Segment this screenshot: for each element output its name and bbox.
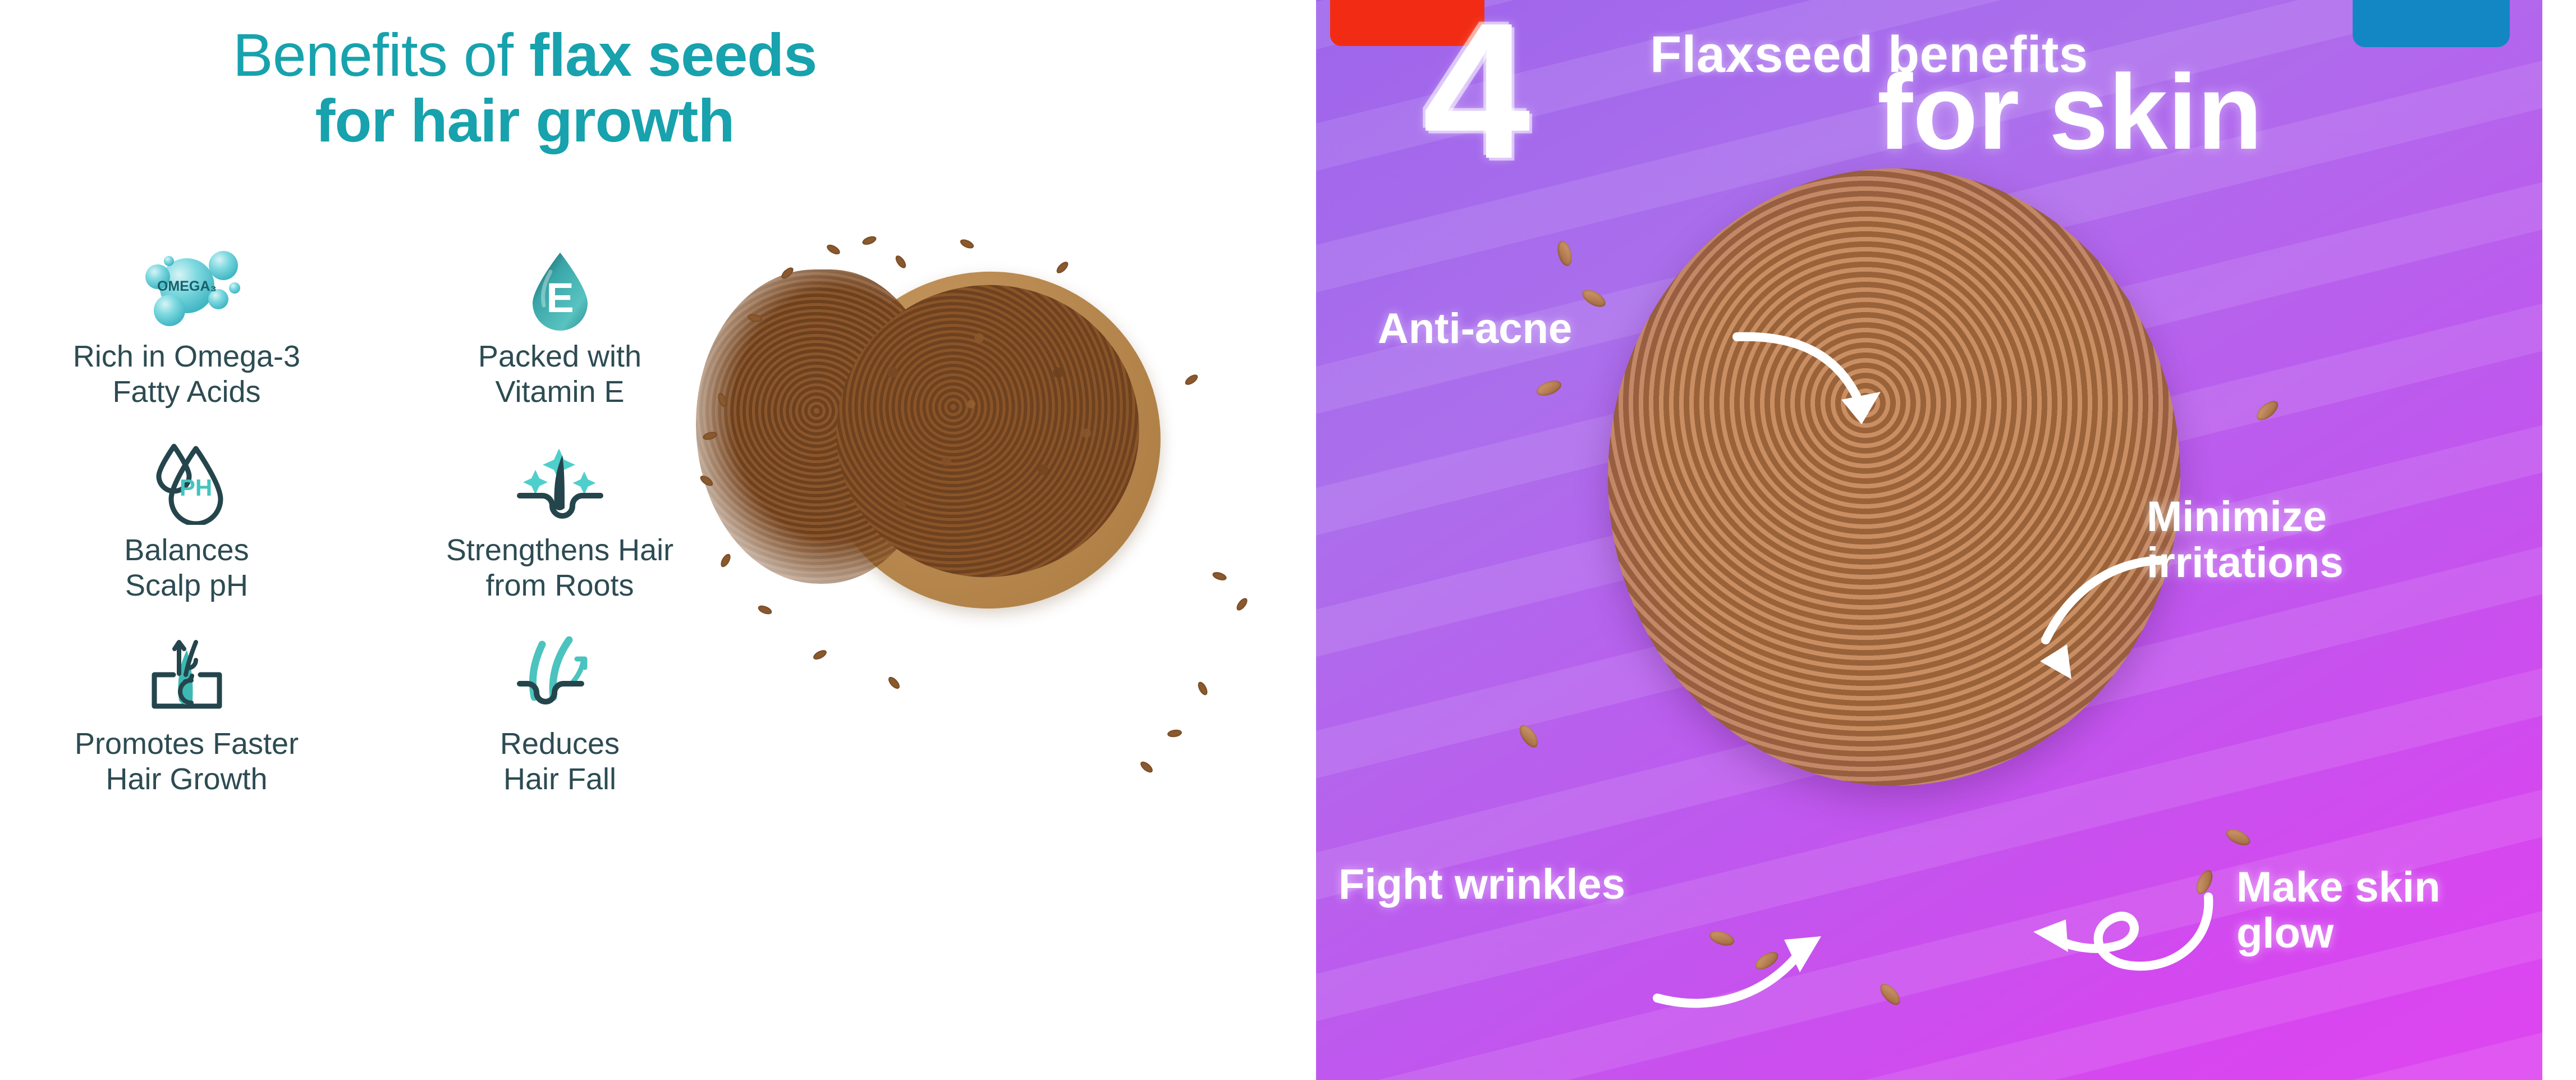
benefit-label-line2: Fatty Acids bbox=[73, 374, 300, 410]
loose-seed bbox=[1212, 570, 1228, 582]
skin-heading-large: for skin bbox=[1877, 59, 2262, 166]
benefit-label: Packed with Vitamin E bbox=[478, 339, 641, 409]
callout-make-skin-glow: Make skin glow bbox=[2236, 864, 2440, 957]
loose-seed bbox=[757, 604, 773, 616]
make-skin-glow-arrow-icon bbox=[2023, 876, 2225, 999]
hair-growth-arrow-icon bbox=[137, 634, 236, 719]
hair-follicle-sparkle-icon bbox=[511, 441, 609, 525]
callout-line2: glow bbox=[2236, 910, 2440, 957]
callout-fight-wrinkles: Fight wrinkles bbox=[1339, 862, 1625, 908]
left-title-block: Benefits of flax seeds for hair growth bbox=[0, 22, 1049, 153]
benefit-label-line2: from Roots bbox=[446, 568, 673, 603]
wooden-spoon-flax-seeds-photo bbox=[696, 236, 1316, 1080]
benefit-label: Strengthens Hair from Roots bbox=[446, 533, 673, 603]
benefit-item-strengthens-hair: Strengthens Hair from Roots bbox=[373, 441, 746, 634]
benefit-label: Reduces Hair Fall bbox=[500, 726, 620, 797]
callout-line1: Make skin bbox=[2236, 864, 2440, 910]
loose-seed bbox=[886, 675, 901, 690]
loose-seed bbox=[959, 237, 975, 250]
vitamin-e-icon-label: E bbox=[546, 274, 574, 321]
benefit-label-line2: Vitamin E bbox=[478, 374, 641, 410]
loose-seed bbox=[825, 242, 841, 256]
fight-wrinkles-arrow-icon bbox=[1653, 926, 1838, 1038]
title-line-2: for hair growth bbox=[0, 88, 1049, 154]
benefit-label-line1: Strengthens Hair bbox=[446, 533, 673, 568]
omega-bubbles-icon: OMEGA₃ bbox=[120, 247, 254, 331]
loose-seed bbox=[893, 254, 908, 270]
callout-anti-acne: Anti-acne bbox=[1378, 306, 1572, 352]
comparison-stage: Benefits of flax seeds for hair growth bbox=[0, 0, 2576, 1080]
benefit-label-line1: Packed with bbox=[478, 339, 641, 374]
loose-seed bbox=[812, 648, 828, 662]
benefit-label-line1: Balances bbox=[124, 533, 249, 568]
benefit-item-reduces-hair-fall: Reduces Hair Fall bbox=[373, 634, 746, 828]
title-bold-part: flax seeds bbox=[529, 21, 817, 89]
skin-benefits-panel: 4 Flaxseed benefits for skin Anti-acne M… bbox=[1316, 0, 2542, 1080]
title-line-1: Benefits of flax seeds bbox=[0, 22, 1049, 88]
hair-benefits-panel: Benefits of flax seeds for hair growth bbox=[0, 0, 1316, 1080]
benefit-label-line1: Promotes Faster bbox=[75, 726, 299, 762]
benefit-label-line1: Reduces bbox=[500, 726, 620, 762]
callout-minimize-irritations: Minimize irritations bbox=[2147, 494, 2344, 586]
benefit-label-line1: Rich in Omega-3 bbox=[73, 339, 300, 374]
benefit-item-scalp-ph: PH Balances Scalp pH bbox=[0, 441, 373, 634]
vitamin-e-droplet-icon: E bbox=[518, 247, 602, 331]
loose-seed bbox=[861, 236, 878, 246]
title-regular-part: Benefits of bbox=[233, 21, 529, 89]
ph-icon-label: PH bbox=[179, 474, 212, 501]
omega-icon-label: OMEGA₃ bbox=[157, 278, 216, 294]
loose-seed bbox=[1055, 260, 1070, 276]
benefit-label-line2: Scalp pH bbox=[124, 568, 249, 603]
loose-seed bbox=[719, 552, 732, 569]
loose-seed bbox=[1184, 373, 1200, 387]
benefit-label: Promotes Faster Hair Growth bbox=[75, 726, 299, 797]
benefit-label-line2: Hair Growth bbox=[75, 762, 299, 797]
ph-droplet-icon: PH bbox=[142, 441, 232, 525]
benefit-label: Balances Scalp pH bbox=[124, 533, 249, 603]
callout-line2: irritations bbox=[2147, 540, 2344, 586]
loose-seed bbox=[1235, 596, 1249, 612]
loose-seed bbox=[1139, 759, 1154, 775]
callout-line1: Minimize bbox=[2147, 494, 2344, 540]
benefits-grid: OMEGA₃ Rich in Omega-3 Fatty Acids bbox=[0, 247, 746, 828]
benefit-item-hair-growth: Promotes Faster Hair Growth bbox=[0, 634, 373, 828]
benefit-label: Rich in Omega-3 Fatty Acids bbox=[73, 339, 300, 409]
anti-acne-arrow-icon bbox=[1731, 314, 1911, 455]
minimize-irritations-arrow-icon bbox=[2005, 550, 2174, 690]
benefit-item-omega3: OMEGA₃ Rich in Omega-3 Fatty Acids bbox=[0, 247, 373, 441]
benefit-item-vitamin-e: E Packed with Vitamin E bbox=[373, 247, 746, 441]
number-four-badge: 4 bbox=[1423, 0, 1530, 188]
blue-corner-block bbox=[2353, 0, 2510, 47]
pile-shading bbox=[1608, 168, 2180, 786]
hair-fall-reduce-icon bbox=[511, 634, 609, 719]
benefit-label-line2: Hair Fall bbox=[500, 762, 620, 797]
loose-seed bbox=[1167, 729, 1182, 738]
flax-seed-pile-photo bbox=[1608, 168, 2180, 786]
loose-seed bbox=[1196, 680, 1209, 697]
